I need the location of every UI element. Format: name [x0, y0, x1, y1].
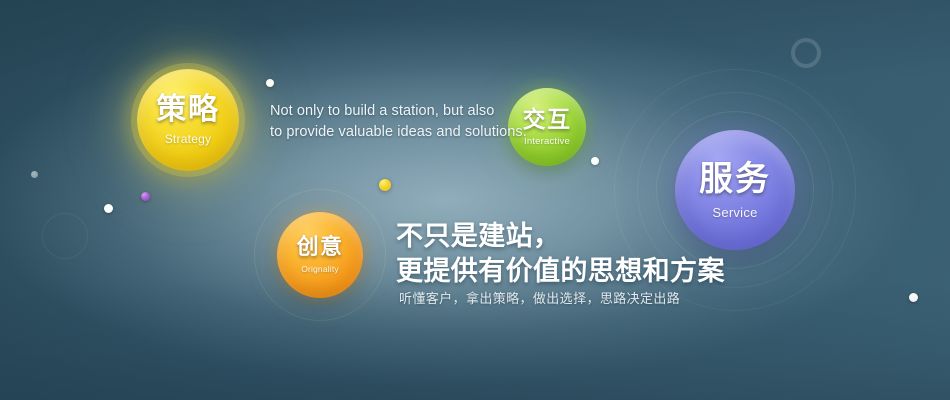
decorative-ring-left — [42, 213, 88, 259]
headline: 不只是建站， 更提供有价值的思想和方案 — [396, 219, 725, 289]
decorative-dot-yellow — [379, 179, 391, 191]
bubble-strategy-label-cn: 策略 — [156, 95, 220, 125]
bubble-service-label-cn: 服务 — [699, 162, 771, 196]
bubble-originality-label-en: Orignality — [301, 265, 339, 274]
bubble-strategy[interactable]: 策略 Strategy — [137, 69, 239, 171]
decorative-dot-purple — [141, 192, 150, 201]
tagline-english-line2: to provide valuable ideas and solutions. — [270, 122, 527, 143]
bubble-strategy-label-en: Strategy — [165, 133, 212, 145]
headline-line1: 不只是建站， — [396, 219, 725, 254]
top-vignette-overlay — [0, 0, 950, 80]
subline: 听懂客户，拿出策略，做出选择，思路决定出路 — [399, 288, 680, 307]
tagline-english-line1: Not only to build a station, but also — [270, 101, 527, 122]
decorative-dot-grey-left — [31, 171, 38, 178]
bubble-service-label-en: Service — [712, 206, 757, 219]
decorative-dot-white-top — [266, 79, 274, 87]
decorative-dot-white-right — [909, 293, 918, 302]
bubble-interactive-label-cn: 交互 — [523, 108, 572, 131]
headline-line2: 更提供有价值的思想和方案 — [396, 254, 725, 289]
decorative-dot-white-mid — [591, 157, 599, 165]
hero-banner: 策略 Strategy 交互 Interactive 创意 Orignality… — [0, 0, 950, 400]
tagline-english: Not only to build a station, but also to… — [270, 101, 527, 144]
decorative-ring-top-right — [791, 38, 821, 68]
bubble-originality-label-cn: 创意 — [297, 236, 344, 258]
decorative-dot-white-left — [104, 204, 113, 213]
bubble-interactive-label-en: Interactive — [524, 137, 570, 147]
bubble-originality[interactable]: 创意 Orignality — [277, 212, 363, 298]
